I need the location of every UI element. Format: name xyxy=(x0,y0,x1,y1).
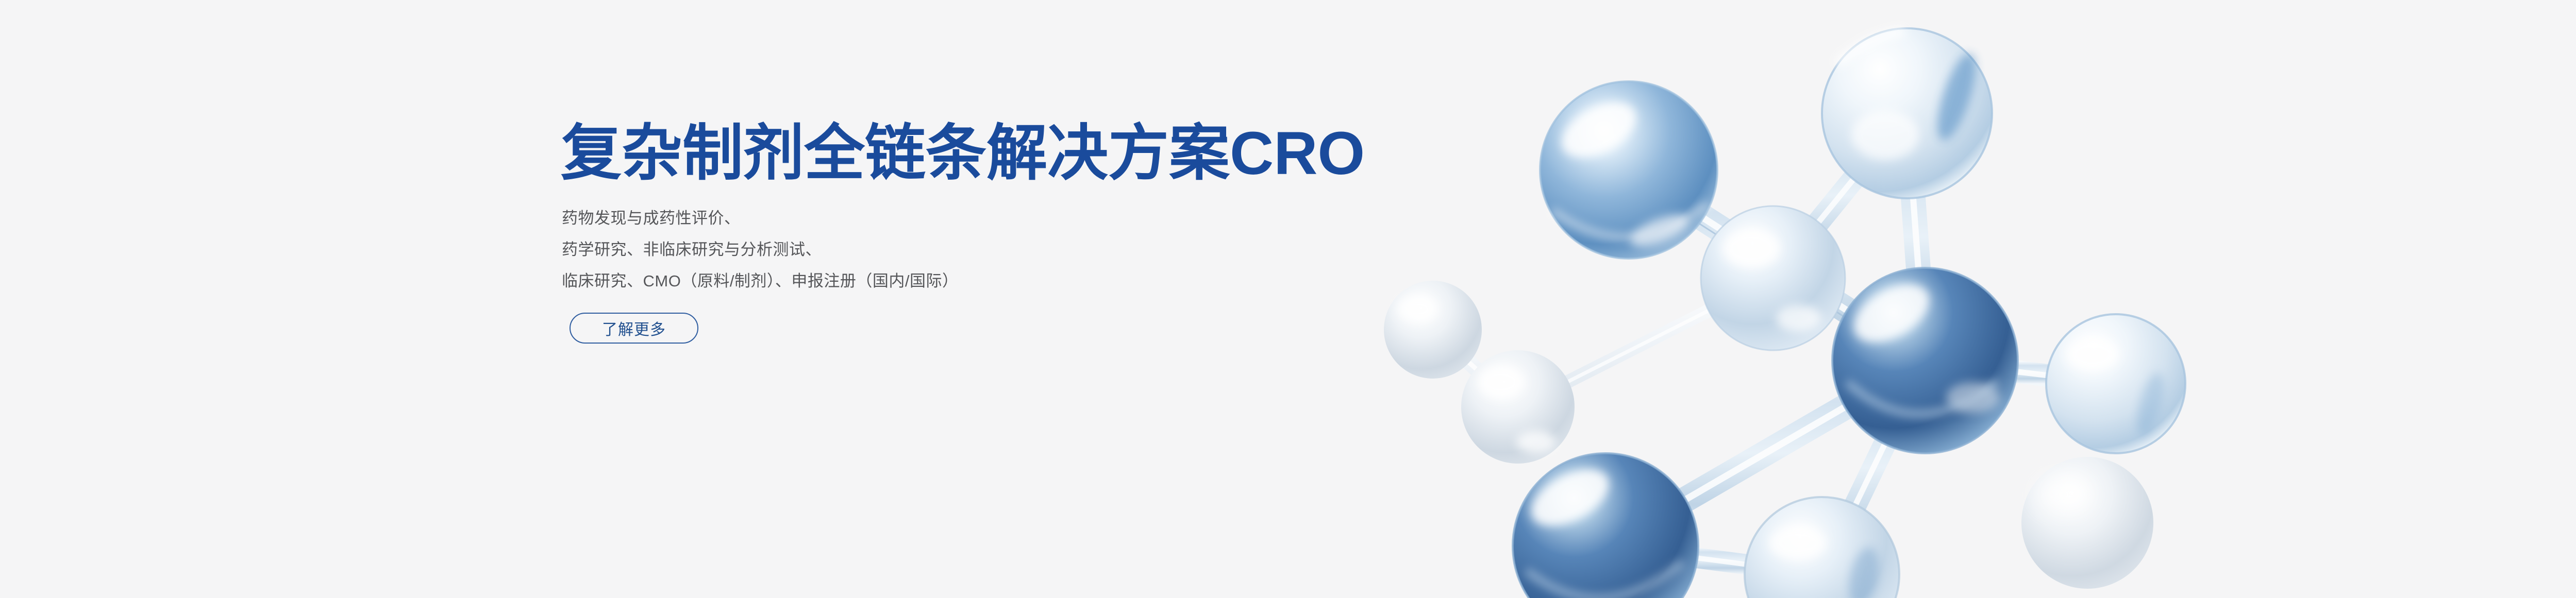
atom-top-left-blue xyxy=(1540,81,1717,259)
page-title: 复杂制剂全链条解决方案CRO xyxy=(561,119,1385,187)
atom-grey-lower-right xyxy=(2021,457,2153,589)
subtitle-line-2: 药学研究、非临床研究与分析测试、 xyxy=(562,242,1385,258)
glass-molecule-illustration xyxy=(1319,0,2299,598)
atom-center-glass xyxy=(1701,206,1845,350)
atom-small-grey-mid xyxy=(1461,350,1575,464)
subtitle-line-1: 药物发现与成药性评价、 xyxy=(562,210,1385,226)
hero-banner: 复杂制剂全链条解决方案CRO 药物发现与成药性评价、 药学研究、非临床研究与分析… xyxy=(0,0,2576,598)
atom-center-deep-blue xyxy=(1832,268,2018,453)
hero-subtitle-list: 药物发现与成药性评价、 药学研究、非临床研究与分析测试、 临床研究、CMO（原料… xyxy=(562,210,1385,289)
learn-more-button[interactable]: 了解更多 xyxy=(570,313,698,344)
subtitle-line-3: 临床研究、CMO（原料/制剂）、申报注册（国内/国际） xyxy=(562,273,1385,289)
atom-bottom-left-blue xyxy=(1513,453,1698,598)
cta-wrapper: 了解更多 xyxy=(570,313,1385,344)
atom-bottom-center-glass xyxy=(1745,497,1899,598)
hero-copy-block: 复杂制剂全链条解决方案CRO 药物发现与成药性评价、 药学研究、非临床研究与分析… xyxy=(561,119,1385,344)
molecule-atoms xyxy=(1384,28,2185,598)
atom-right-glass xyxy=(2046,314,2185,453)
atom-top-right-glass xyxy=(1822,28,1992,198)
atom-small-grey-left xyxy=(1384,281,1482,379)
